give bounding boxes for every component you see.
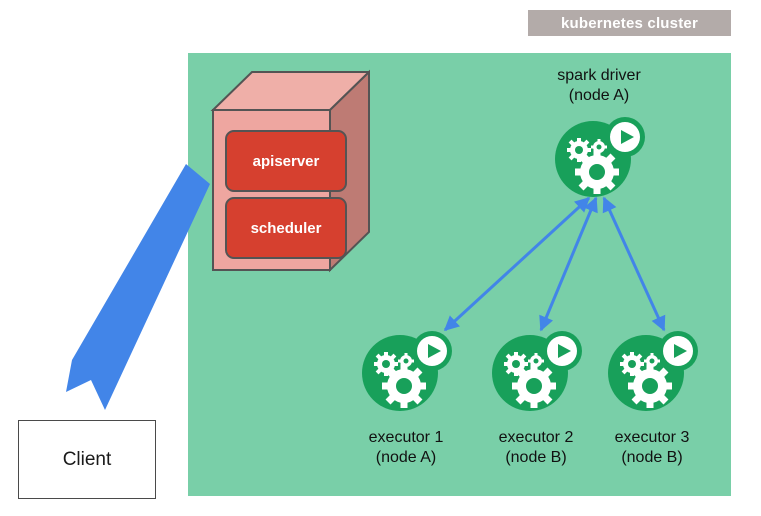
spark-node-icon — [358, 328, 453, 413]
gear-large-icon — [628, 364, 672, 408]
executor-3-node[interactable] — [604, 328, 699, 413]
executor-2-node[interactable] — [488, 328, 583, 413]
spark-submit-arrow — [58, 162, 218, 412]
spark-driver-node[interactable] — [551, 114, 646, 199]
client-box[interactable]: Client — [18, 420, 156, 499]
apiserver-component[interactable]: apiserver — [225, 130, 347, 192]
gear-large-icon — [512, 364, 556, 408]
kubernetes-control-plane-cube: apiserver scheduler — [205, 66, 370, 278]
spark-node-icon — [604, 328, 699, 413]
diagram-canvas: kubernetes cluster apiserver scheduler s… — [0, 0, 761, 516]
gear-large-icon — [382, 364, 426, 408]
spark-submit-arrow-shape — [58, 162, 218, 412]
gear-large-icon — [575, 150, 619, 194]
scheduler-component[interactable]: scheduler — [225, 197, 347, 259]
executor-1-node[interactable] — [358, 328, 453, 413]
executor-1-caption: executor 1 (node A) — [331, 428, 481, 468]
kubernetes-cluster-badge: kubernetes cluster — [528, 10, 731, 36]
arrow-body — [66, 164, 210, 410]
spark-node-icon — [488, 328, 583, 413]
executor-3-caption: executor 3 (node B) — [577, 428, 727, 468]
spark-driver-caption: spark driver (node A) — [524, 66, 674, 106]
spark-node-icon — [551, 114, 646, 199]
